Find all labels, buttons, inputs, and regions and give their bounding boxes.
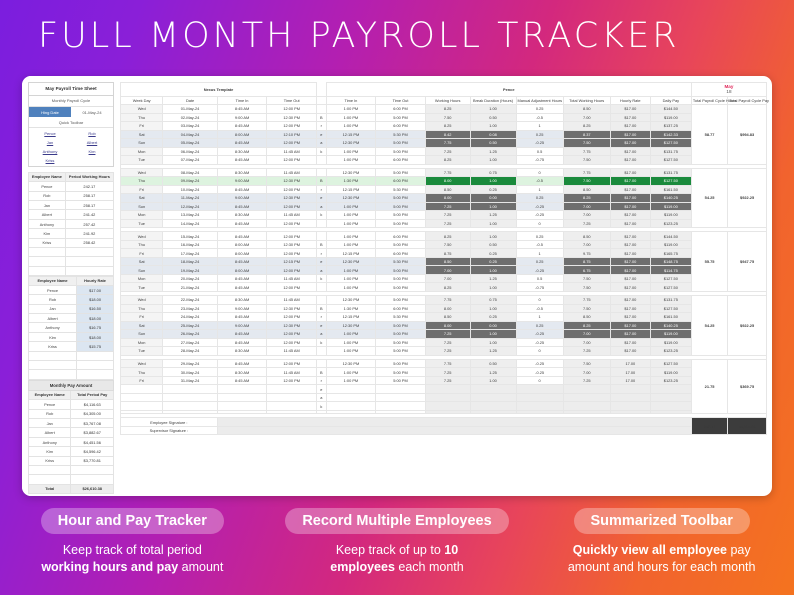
payroll-row[interactable]: k [121, 402, 767, 411]
payroll-cell[interactable]: 17-May-24 [163, 249, 217, 258]
payroll-cell[interactable]: 11:45 AM [267, 296, 317, 305]
payroll-row[interactable]: Sun05-May-248:45 AM12:00 PMa12:30 PM5:00… [121, 139, 767, 148]
payroll-cell[interactable]: 0 [516, 296, 563, 305]
payroll-cell[interactable]: 12:30 PM [326, 321, 376, 330]
payroll-cell[interactable]: 7.25 [563, 347, 610, 356]
payroll-cell[interactable]: 11-May-24 [163, 194, 217, 203]
payroll-cell[interactable]: 20-May-24 [163, 274, 217, 283]
payroll-cell[interactable]: 1.00 [470, 266, 516, 275]
payroll-cell[interactable]: 13-May-24 [163, 211, 217, 220]
payroll-cell[interactable]: Wed [121, 359, 163, 368]
payroll-cell[interactable]: 0.00 [470, 321, 516, 330]
payroll-cell[interactable]: 5:00 PM [376, 296, 426, 305]
payroll-cell[interactable]: 1.00 [470, 376, 516, 385]
payroll-cell[interactable]: 1.00 [470, 232, 516, 241]
payroll-cell[interactable]: 23-May-24 [163, 304, 217, 313]
payroll-cell[interactable]: 09-May-24 [163, 177, 217, 186]
payroll-cell[interactable]: 8.00 [425, 194, 470, 203]
payroll-cell[interactable]: 7.00 [425, 266, 470, 275]
payroll-cell[interactable]: 12:00 PM [267, 232, 317, 241]
payroll-cell[interactable]: 7.00 [563, 330, 610, 339]
payroll-cell[interactable]: 1.00 [470, 177, 516, 186]
payroll-cell[interactable]: 12:30 PM [267, 321, 317, 330]
payroll-cell[interactable]: $17.00 [610, 194, 650, 203]
payroll-cell[interactable] [650, 402, 691, 411]
payroll-cell[interactable]: 15-May-24 [163, 232, 217, 241]
payroll-cell[interactable]: -0.5 [516, 240, 563, 249]
payroll-cell[interactable]: 28-May-24 [163, 347, 217, 356]
payroll-cell[interactable]: 7.50 [563, 359, 610, 368]
payroll-cell[interactable]: $161.50 [650, 313, 691, 322]
payroll-cell[interactable]: 0.5 [516, 147, 563, 156]
payroll-cell[interactable]: 8.50 [425, 185, 470, 194]
payroll-cell[interactable]: 0.25 [470, 249, 516, 258]
payroll-cell[interactable]: 7.00 [425, 274, 470, 283]
payroll-cell[interactable]: Mon [121, 211, 163, 220]
payroll-cell[interactable]: 29-May-24 [163, 359, 217, 368]
payroll-cell[interactable]: 16-May-24 [163, 240, 217, 249]
payroll-cell[interactable] [610, 393, 650, 402]
payroll-cell[interactable]: 8.25 [425, 283, 470, 292]
payroll-cell[interactable]: 6:00 PM [376, 105, 426, 114]
payroll-cell[interactable]: 6:00 PM [376, 156, 426, 165]
payroll-row[interactable]: Fri31-May-248:45 AM12:00 PMr1:00 PM5:00 … [121, 376, 767, 385]
payroll-cell[interactable]: 1:00 PM [326, 211, 376, 220]
payroll-cell[interactable]: $17.00 [610, 257, 650, 266]
payroll-cell[interactable]: $17.00 [610, 219, 650, 228]
signature-input[interactable] [217, 426, 691, 435]
payroll-cell[interactable]: 7.25 [425, 202, 470, 211]
payroll-cell[interactable]: 8.50 [425, 313, 470, 322]
payroll-row[interactable]: Wed01-May-248:45 AM12:00 PM1:00 PM6:00 P… [121, 105, 767, 114]
payroll-cell[interactable]: $127.50 [650, 177, 691, 186]
payroll-cell[interactable]: 7.75 [425, 139, 470, 148]
payroll-cell[interactable]: 1:00 PM [326, 122, 376, 131]
payroll-cell[interactable]: 7.25 [425, 368, 470, 377]
payroll-cell[interactable]: 8:45 AM [217, 122, 267, 131]
payroll-cell[interactable]: 6.75 [563, 266, 610, 275]
payroll-cell[interactable]: $17.00 [610, 330, 650, 339]
payroll-cell[interactable]: $127.50 [650, 304, 691, 313]
payroll-cell[interactable]: 7.75 [425, 359, 470, 368]
payroll-cell[interactable]: 7.25 [425, 219, 470, 228]
payroll-cell[interactable]: $119.00 [650, 330, 691, 339]
payroll-cell[interactable]: 0.25 [470, 185, 516, 194]
payroll-cell[interactable]: $17.00 [610, 232, 650, 241]
payroll-cell[interactable]: 1:30 PM [326, 177, 376, 186]
payroll-cell[interactable]: 06-May-24 [163, 147, 217, 156]
payroll-cell[interactable]: 8.25 [425, 122, 470, 131]
payroll-cell[interactable]: 0.25 [516, 257, 563, 266]
payroll-cell[interactable]: 8.37 [563, 130, 610, 139]
payroll-cell[interactable]: Wed [121, 232, 163, 241]
payroll-row[interactable]: Sat18-May-248:45 AM12:15 PMe12:30 PM5:30… [121, 257, 767, 266]
payroll-cell[interactable]: 1.00 [470, 202, 516, 211]
payroll-cell[interactable]: 8:45 AM [217, 219, 267, 228]
payroll-cell[interactable]: 1:00 PM [326, 330, 376, 339]
payroll-cell[interactable]: 0.75 [470, 296, 516, 305]
payroll-cell[interactable]: Sun [121, 330, 163, 339]
payroll-cell[interactable]: 7.50 [563, 304, 610, 313]
quick-link-kriss[interactable]: Kriss [29, 156, 71, 165]
payroll-cell[interactable]: 17.00 [610, 368, 650, 377]
payroll-cell[interactable]: 8.25 [425, 232, 470, 241]
payroll-cell[interactable]: 1:00 PM [326, 113, 376, 122]
payroll-cell[interactable]: $17.00 [610, 105, 650, 114]
payroll-row[interactable]: Wed29-May-248:45 AM12:00 PM12:30 PM5:00 … [121, 359, 767, 368]
payroll-cell[interactable]: 1.00 [470, 156, 516, 165]
payroll-cell[interactable]: 7.00 [563, 113, 610, 122]
payroll-cell[interactable]: Thu [121, 177, 163, 186]
payroll-cell[interactable]: 1:00 PM [326, 240, 376, 249]
payroll-row[interactable]: Tue14-May-248:45 AM12:00 PM1:00 PM5:00 P… [121, 219, 767, 228]
payroll-cell[interactable]: 7.00 [563, 202, 610, 211]
payroll-row[interactable]: Thu30-May-248:30 AM11:45 AMB1:00 PM5:00 … [121, 368, 767, 377]
payroll-cell[interactable]: 8.50 [563, 185, 610, 194]
payroll-cell[interactable]: 7.50 [563, 177, 610, 186]
payroll-cell[interactable]: $119.00 [650, 211, 691, 220]
payroll-cell[interactable]: 31-May-24 [163, 376, 217, 385]
payroll-cell[interactable]: 7.75 [563, 168, 610, 177]
payroll-cell[interactable]: 5:00 PM [376, 338, 426, 347]
payroll-cell[interactable]: $17.00 [610, 347, 650, 356]
payroll-cell[interactable]: Fri [121, 376, 163, 385]
payroll-cell[interactable]: Thu [121, 368, 163, 377]
payroll-cell[interactable]: $17.00 [610, 202, 650, 211]
payroll-cell[interactable]: -0.25 [516, 211, 563, 220]
payroll-cell[interactable]: $17.00 [610, 304, 650, 313]
payroll-cell[interactable]: 5:30 PM [376, 313, 426, 322]
payroll-cell[interactable]: 5:00 PM [376, 321, 426, 330]
payroll-cell[interactable]: $131.75 [650, 168, 691, 177]
payroll-cell[interactable]: Thu [121, 240, 163, 249]
payroll-cell[interactable]: 1:00 PM [326, 156, 376, 165]
quick-link-rob[interactable]: Rob [71, 129, 113, 138]
quick-link-pence[interactable]: Pence [29, 129, 71, 138]
payroll-cell[interactable]: 12-May-24 [163, 202, 217, 211]
payroll-cell[interactable]: Tue [121, 347, 163, 356]
payroll-row[interactable]: Fri03-May-248:45 AM12:00 PMr1:00 PM6:00 … [121, 122, 767, 131]
quick-link-kim[interactable]: Kim [71, 147, 113, 156]
payroll-cell[interactable]: 9.75 [563, 249, 610, 258]
payroll-cell[interactable]: 7.50 [425, 113, 470, 122]
payroll-cell[interactable]: 8:45 AM [217, 202, 267, 211]
payroll-cell[interactable] [470, 393, 516, 402]
payroll-cell[interactable]: 12:30 PM [326, 257, 376, 266]
payroll-cell[interactable]: $17.00 [610, 296, 650, 305]
payroll-cell[interactable]: Sun [121, 202, 163, 211]
payroll-cell[interactable]: 8:45 AM [217, 185, 267, 194]
payroll-cell[interactable]: 5:00 PM [376, 330, 426, 339]
payroll-cell[interactable] [326, 393, 376, 402]
payroll-cell[interactable]: -0.25 [516, 368, 563, 377]
payroll-cell[interactable]: 8.25 [563, 122, 610, 131]
payroll-cell[interactable]: 9:00 AM [217, 177, 267, 186]
payroll-cell[interactable]: 5:00 PM [376, 274, 426, 283]
payroll-cell[interactable]: 8.50 [563, 105, 610, 114]
payroll-cell[interactable]: 8:30 AM [217, 347, 267, 356]
payroll-cell[interactable]: 6:00 PM [376, 304, 426, 313]
payroll-cell[interactable]: $17.00 [610, 177, 650, 186]
payroll-cell[interactable]: -0.75 [516, 283, 563, 292]
payroll-cell[interactable]: 12:00 PM [267, 266, 317, 275]
payroll-cell[interactable] [267, 393, 317, 402]
payroll-cell[interactable] [163, 385, 217, 394]
payroll-cell[interactable]: Tue [121, 156, 163, 165]
payroll-cell[interactable] [121, 393, 163, 402]
payroll-cell[interactable]: 1.00 [470, 105, 516, 114]
payroll-cell[interactable] [163, 393, 217, 402]
payroll-cell[interactable]: $119.00 [650, 202, 691, 211]
payroll-cell[interactable]: 0.25 [470, 313, 516, 322]
payroll-cell[interactable]: 8.50 [563, 313, 610, 322]
payroll-cell[interactable]: 7.50 [425, 240, 470, 249]
payroll-cell[interactable]: 8:00 AM [217, 240, 267, 249]
payroll-cell[interactable]: 8:45 AM [217, 359, 267, 368]
payroll-cell[interactable]: $123.25 [650, 347, 691, 356]
payroll-row[interactable]: Sun12-May-248:45 AM12:00 PMa1:00 PM5:00 … [121, 202, 767, 211]
payroll-cell[interactable]: 04-May-24 [163, 130, 217, 139]
payroll-cell[interactable]: 0.50 [470, 113, 516, 122]
payroll-cell[interactable]: 8:45 AM [217, 313, 267, 322]
payroll-cell[interactable]: 7.50 [563, 274, 610, 283]
payroll-cell[interactable]: 12:15 PM [326, 313, 376, 322]
payroll-cell[interactable]: 12:00 PM [267, 338, 317, 347]
payroll-cell[interactable]: -0.25 [516, 359, 563, 368]
quick-link-jan[interactable]: Jan [29, 138, 71, 147]
payroll-row[interactable]: Thu16-May-248:00 AM12:30 PMB1:00 PM5:00 … [121, 240, 767, 249]
payroll-cell[interactable]: $148.75 [650, 257, 691, 266]
payroll-cell[interactable]: 0.25 [516, 130, 563, 139]
payroll-cell[interactable] [326, 402, 376, 411]
payroll-cell[interactable]: 7.50 [563, 139, 610, 148]
payroll-cell[interactable]: 17.00 [610, 359, 650, 368]
payroll-cell[interactable]: 0.25 [516, 105, 563, 114]
payroll-cell[interactable]: 0.25 [516, 321, 563, 330]
payroll-cell[interactable]: 19-May-24 [163, 266, 217, 275]
payroll-cell[interactable]: 12:15 PM [326, 130, 376, 139]
payroll-cell[interactable]: -0.25 [516, 202, 563, 211]
payroll-cell[interactable]: 12:15 PM [267, 257, 317, 266]
payroll-cell[interactable]: $17.00 [610, 130, 650, 139]
payroll-cell[interactable] [470, 402, 516, 411]
payroll-cell[interactable]: $17.00 [610, 156, 650, 165]
payroll-cell[interactable]: 12:10 PM [267, 130, 317, 139]
payroll-cell[interactable]: 5:00 PM [376, 211, 426, 220]
payroll-cell[interactable]: 12:00 PM [267, 249, 317, 258]
payroll-cell[interactable]: 12:00 PM [267, 330, 317, 339]
payroll-row[interactable]: Thu23-May-249:00 AM12:30 PMB1:30 PM6:00 … [121, 304, 767, 313]
payroll-row[interactable]: Wed08-May-248:30 AM11:45 AM12:30 PM5:00 … [121, 168, 767, 177]
payroll-cell[interactable]: 1:00 PM [326, 266, 376, 275]
payroll-cell[interactable]: $17.00 [610, 168, 650, 177]
payroll-cell[interactable]: 27-May-24 [163, 338, 217, 347]
payroll-cell[interactable] [425, 385, 470, 394]
payroll-cell[interactable]: 1:00 PM [326, 368, 376, 377]
payroll-cell[interactable]: 1:00 PM [326, 219, 376, 228]
payroll-cell[interactable]: 0 [516, 219, 563, 228]
payroll-cell[interactable]: 12:30 PM [326, 168, 376, 177]
payroll-cell[interactable]: Sat [121, 321, 163, 330]
payroll-row[interactable]: Mon20-May-248:45 AM11:45 AMk1:00 PM5:00 … [121, 274, 767, 283]
payroll-cell[interactable]: 6:00 PM [376, 122, 426, 131]
payroll-cell[interactable]: Mon [121, 274, 163, 283]
payroll-cell[interactable]: 8:45 AM [217, 105, 267, 114]
payroll-cell[interactable]: $119.00 [650, 240, 691, 249]
payroll-cell[interactable]: Sat [121, 257, 163, 266]
payroll-cell[interactable]: 5:30 PM [376, 130, 426, 139]
payroll-row[interactable]: Tue21-May-248:45 AM12:00 PM1:00 PM5:00 P… [121, 283, 767, 292]
payroll-cell[interactable]: 7.25 [425, 147, 470, 156]
payroll-cell[interactable]: 8:00 AM [217, 249, 267, 258]
payroll-cell[interactable]: 8.00 [425, 321, 470, 330]
payroll-cell[interactable]: 1:00 PM [326, 147, 376, 156]
payroll-row[interactable]: Fri17-May-248:00 AM12:00 PMr12:15 PM6:00… [121, 249, 767, 258]
payroll-row[interactable]: Fri10-May-248:45 AM12:00 PMr12:15 PM5:30… [121, 185, 767, 194]
payroll-cell[interactable]: 5:00 PM [376, 139, 426, 148]
payroll-cell[interactable]: 11:45 AM [267, 368, 317, 377]
payroll-cell[interactable]: 12:30 PM [326, 296, 376, 305]
payroll-cell[interactable]: 5:00 PM [376, 147, 426, 156]
payroll-cell[interactable]: $161.50 [650, 185, 691, 194]
payroll-row[interactable]: Sat04-May-248:00 AM12:10 PMe12:15 PM5:30… [121, 130, 767, 139]
payroll-cell[interactable]: 5:00 PM [376, 266, 426, 275]
payroll-cell[interactable]: 7.00 [563, 368, 610, 377]
payroll-cell[interactable]: Sat [121, 130, 163, 139]
payroll-cell[interactable]: 8.42 [425, 130, 470, 139]
payroll-cell[interactable]: Fri [121, 185, 163, 194]
payroll-cell[interactable]: -0.75 [516, 156, 563, 165]
payroll-cell[interactable]: 12:00 PM [267, 219, 317, 228]
payroll-cell[interactable]: 8:45 AM [217, 376, 267, 385]
payroll-cell[interactable]: 24-May-24 [163, 313, 217, 322]
payroll-cell[interactable]: 12:00 PM [267, 122, 317, 131]
payroll-cell[interactable]: 25-May-24 [163, 321, 217, 330]
payroll-cell[interactable]: Thu [121, 304, 163, 313]
payroll-cell[interactable]: 5:00 PM [376, 202, 426, 211]
payroll-cell[interactable]: $17.00 [610, 122, 650, 131]
payroll-cell[interactable]: $131.75 [650, 296, 691, 305]
payroll-cell[interactable]: 03-May-24 [163, 122, 217, 131]
payroll-cell[interactable]: $17.00 [610, 321, 650, 330]
payroll-cell[interactable]: 0.5 [516, 274, 563, 283]
payroll-cell[interactable]: 7.25 [425, 338, 470, 347]
payroll-cell[interactable]: 12:00 PM [267, 359, 317, 368]
payroll-cell[interactable] [217, 385, 267, 394]
payroll-cell[interactable] [267, 385, 317, 394]
payroll-cell[interactable]: 12:00 PM [267, 139, 317, 148]
payroll-cell[interactable]: 0.25 [516, 194, 563, 203]
quick-link-anthony[interactable]: Anthony [29, 147, 71, 156]
payroll-cell[interactable]: 1:00 PM [326, 202, 376, 211]
payroll-row[interactable]: Mon27-May-248:45 AM12:00 PMk1:00 PM5:00 … [121, 338, 767, 347]
payroll-cell[interactable] [516, 393, 563, 402]
payroll-cell[interactable]: 12:00 PM [267, 105, 317, 114]
payroll-cell[interactable]: 02-May-24 [163, 113, 217, 122]
payroll-cell[interactable]: $17.00 [610, 139, 650, 148]
payroll-cell[interactable]: 0 [516, 347, 563, 356]
payroll-cell[interactable] [563, 393, 610, 402]
payroll-cell[interactable]: 01-May-24 [163, 105, 217, 114]
payroll-row[interactable]: Wed22-May-248:30 AM11:45 AM12:30 PM5:00 … [121, 296, 767, 305]
payroll-cell[interactable]: 1:30 PM [326, 304, 376, 313]
payroll-cell[interactable]: 8:00 AM [217, 130, 267, 139]
payroll-cell[interactable]: 12:30 PM [267, 177, 317, 186]
payroll-cell[interactable]: $17.00 [610, 147, 650, 156]
payroll-cell[interactable] [376, 385, 426, 394]
payroll-cell[interactable]: 22-May-24 [163, 296, 217, 305]
payroll-cell[interactable]: 1:00 PM [326, 376, 376, 385]
payroll-cell[interactable]: 1:00 PM [326, 338, 376, 347]
payroll-row[interactable]: Tue28-May-248:30 AM11:45 AM1:00 PM5:00 P… [121, 347, 767, 356]
payroll-cell[interactable]: 6:00 PM [376, 249, 426, 258]
payroll-cell[interactable]: 8:45 AM [217, 338, 267, 347]
payroll-cell[interactable]: 5:30 PM [376, 257, 426, 266]
payroll-cell[interactable]: 6:00 PM [376, 177, 426, 186]
payroll-cell[interactable]: 0.50 [470, 359, 516, 368]
signature-input[interactable] [217, 418, 691, 427]
payroll-row[interactable]: Mon06-May-248:30 AM11:45 AMk1:00 PM5:00 … [121, 147, 767, 156]
payroll-cell[interactable]: 14-May-24 [163, 219, 217, 228]
payroll-row[interactable]: Tue07-May-248:45 AM12:00 PM1:00 PM6:00 P… [121, 156, 767, 165]
payroll-cell[interactable]: $17.00 [610, 240, 650, 249]
payroll-cell[interactable]: Fri [121, 249, 163, 258]
payroll-cell[interactable]: $127.50 [650, 139, 691, 148]
payroll-cell[interactable]: 8.25 [425, 105, 470, 114]
quick-link-albert[interactable]: Albert [71, 138, 113, 147]
payroll-cell[interactable]: 1.00 [470, 283, 516, 292]
payroll-cell[interactable]: 8:45 AM [217, 139, 267, 148]
payroll-row[interactable]: e [121, 385, 767, 394]
payroll-row[interactable]: Thu09-May-249:00 AM12:30 PMB1:30 PM6:00 … [121, 177, 767, 186]
payroll-cell[interactable]: 0.25 [470, 257, 516, 266]
payroll-cell[interactable]: Sun [121, 139, 163, 148]
payroll-cell[interactable]: $140.25 [650, 321, 691, 330]
payroll-cell[interactable]: 12:00 PM [267, 202, 317, 211]
payroll-cell[interactable] [217, 393, 267, 402]
payroll-cell[interactable]: 8:30 AM [217, 168, 267, 177]
payroll-cell[interactable]: 7.00 [563, 240, 610, 249]
payroll-cell[interactable]: 1:00 PM [326, 283, 376, 292]
payroll-cell[interactable]: 11:45 AM [267, 211, 317, 220]
payroll-cell[interactable]: Thu [121, 113, 163, 122]
payroll-cell[interactable]: $17.00 [610, 185, 650, 194]
payroll-cell[interactable]: 8:30 AM [217, 296, 267, 305]
payroll-cell[interactable] [650, 393, 691, 402]
payroll-cell[interactable]: 8:30 AM [217, 211, 267, 220]
payroll-cell[interactable]: $142.33 [650, 130, 691, 139]
payroll-cell[interactable]: 8:45 AM [217, 274, 267, 283]
payroll-cell[interactable]: 1:00 PM [326, 232, 376, 241]
payroll-cell[interactable]: $17.00 [610, 338, 650, 347]
payroll-cell[interactable]: Sun [121, 266, 163, 275]
payroll-cell[interactable]: $17.00 [610, 211, 650, 220]
payroll-cell[interactable]: 8.75 [425, 249, 470, 258]
payroll-cell[interactable]: -0.25 [516, 330, 563, 339]
payroll-cell[interactable]: $119.00 [650, 113, 691, 122]
payroll-cell[interactable]: 5:00 PM [376, 359, 426, 368]
payroll-cell[interactable]: 12:15 PM [326, 249, 376, 258]
payroll-cell[interactable]: 12:30 PM [326, 194, 376, 203]
payroll-cell[interactable]: 8.00 [425, 177, 470, 186]
payroll-cell[interactable]: 5:00 PM [376, 113, 426, 122]
payroll-cell[interactable]: 1 [516, 249, 563, 258]
payroll-cell[interactable]: $17.00 [610, 274, 650, 283]
payroll-cell[interactable]: $17.00 [610, 313, 650, 322]
payroll-cell[interactable]: Mon [121, 338, 163, 347]
payroll-cell[interactable]: $144.50 [650, 232, 691, 241]
payroll-cell[interactable]: 26-May-24 [163, 330, 217, 339]
